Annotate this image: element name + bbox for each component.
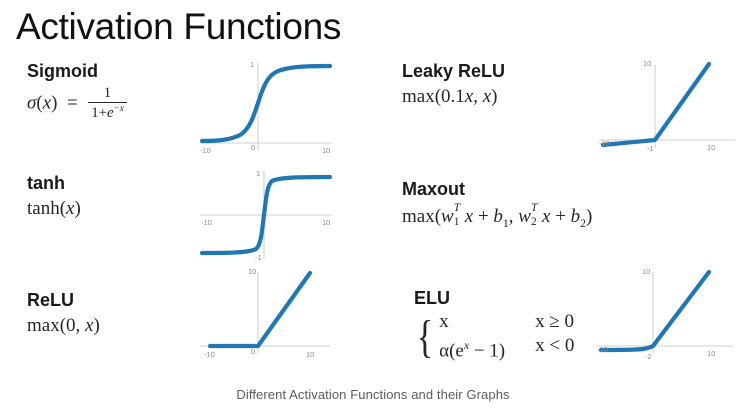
tick-relu-y-top: 10 bbox=[248, 267, 256, 276]
function-block-maxout: Maxout max(wT1x + b1, wT2x + b2) bbox=[402, 178, 592, 236]
function-block-sigmoid: Sigmoid σ(x) = 1 1+e−x bbox=[27, 60, 128, 121]
plot-sigmoid: -10 10 1 0 bbox=[196, 55, 336, 155]
tick-tanh-y-top: 1 bbox=[256, 169, 260, 178]
function-formula-tanh: tanh(x) bbox=[27, 197, 81, 221]
tick-leaky-x-left: -10 bbox=[599, 139, 610, 148]
function-label-tanh: tanh bbox=[27, 172, 81, 194]
tick-relu-x-right: 10 bbox=[306, 350, 314, 359]
function-formula-leaky-relu: max(0.1x, x) bbox=[402, 85, 505, 109]
elu-case-2-expr: α(ex − 1) bbox=[439, 335, 505, 362]
function-formula-maxout: max(wT1x + b1, wT2x + b2) bbox=[402, 203, 592, 236]
tick-elu-y-origin: -2 bbox=[645, 352, 652, 361]
tick-sigmoid-y-origin: 0 bbox=[251, 143, 255, 152]
elu-case-2-cond: x < 0 bbox=[535, 335, 574, 362]
function-formula-elu: { x x ≥ 0 α(ex − 1) x < 0 bbox=[414, 311, 574, 362]
tick-elu-x-left: -10 bbox=[597, 345, 608, 354]
function-block-elu: ELU { x x ≥ 0 α(ex − 1) x < 0 bbox=[414, 287, 574, 362]
figure-caption: Different Activation Functions and their… bbox=[0, 387, 746, 402]
function-label-elu: ELU bbox=[414, 287, 574, 309]
tick-tanh-x-right: 10 bbox=[322, 218, 330, 227]
tick-leaky-x-right: 10 bbox=[707, 143, 715, 152]
function-formula-sigmoid: σ(x) = 1 1+e−x bbox=[27, 85, 128, 121]
function-block-relu: ReLU max(0, x) bbox=[27, 289, 100, 338]
tick-elu-x-right: 10 bbox=[707, 349, 715, 358]
plot-leaky-relu: -10 10 10 -1 bbox=[585, 50, 745, 160]
elu-case-1-cond: x ≥ 0 bbox=[535, 311, 574, 333]
left-brace-icon: { bbox=[417, 317, 434, 356]
tick-elu-y-top: 10 bbox=[642, 267, 650, 276]
tick-leaky-y-top: 10 bbox=[643, 59, 651, 68]
function-label-relu: ReLU bbox=[27, 289, 100, 311]
slide-canvas: Activation Functions Sigmoid σ(x) = 1 1+… bbox=[0, 0, 746, 416]
tick-relu-y-origin: 0 bbox=[251, 347, 255, 356]
elu-case-1-expr: x bbox=[439, 311, 505, 333]
tick-sigmoid-x-right: 10 bbox=[322, 146, 330, 155]
plot-relu: -10 10 10 0 bbox=[190, 258, 340, 363]
tick-relu-x-left: -10 bbox=[204, 350, 215, 359]
tick-leaky-y-origin: -1 bbox=[647, 144, 654, 153]
tick-tanh-x-left: -10 bbox=[201, 218, 212, 227]
tick-sigmoid-x-left: -10 bbox=[200, 146, 211, 155]
function-block-tanh: tanh tanh(x) bbox=[27, 172, 81, 221]
function-block-leaky-relu: Leaky ReLU max(0.1x, x) bbox=[402, 60, 505, 109]
function-label-leaky-relu: Leaky ReLU bbox=[402, 60, 505, 82]
plot-elu: -10 10 10 -2 bbox=[585, 258, 745, 363]
function-formula-relu: max(0, x) bbox=[27, 314, 100, 338]
tick-sigmoid-y-top: 1 bbox=[250, 60, 254, 69]
function-label-maxout: Maxout bbox=[402, 178, 592, 200]
page-title: Activation Functions bbox=[16, 4, 341, 50]
function-label-sigmoid: Sigmoid bbox=[27, 60, 128, 82]
plot-tanh: -10 10 1 -1 bbox=[196, 165, 336, 265]
